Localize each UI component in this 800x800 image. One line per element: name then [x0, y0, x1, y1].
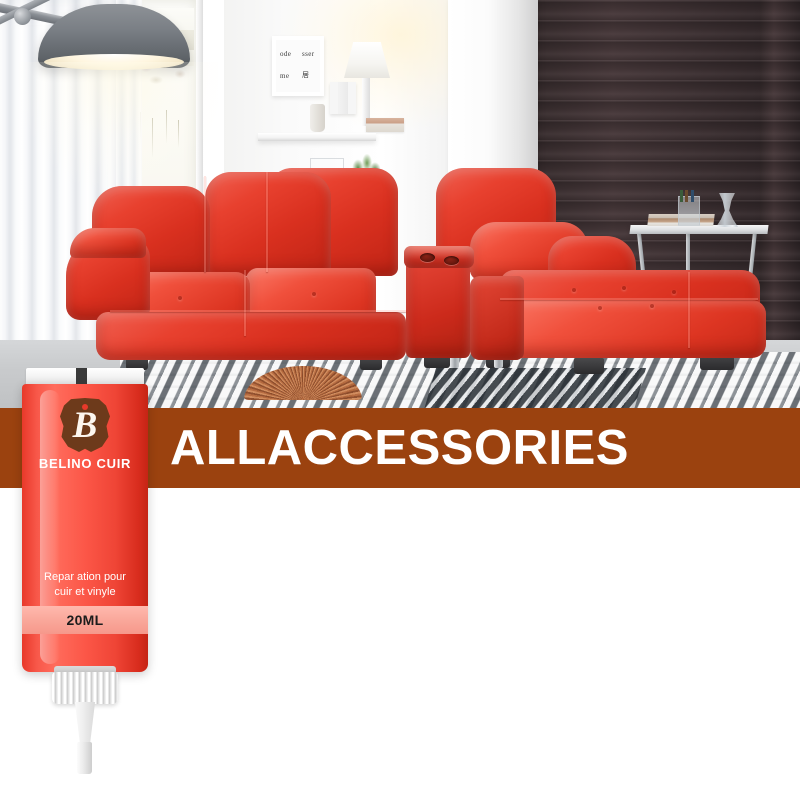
logo-letter: B — [60, 402, 110, 450]
sofa-arm-left-top — [70, 228, 146, 258]
chaise-tuft — [672, 290, 676, 294]
chaise-lounge-front — [496, 300, 766, 358]
sofa-seam — [204, 176, 206, 272]
tube-nozzle — [71, 702, 99, 744]
chaise-seam — [500, 298, 758, 300]
sofa-tuft — [312, 292, 316, 296]
advertisement-banner: ode sser me 居 — [0, 0, 800, 800]
sofa-console-top — [404, 246, 474, 268]
chaise-tuft — [622, 286, 626, 290]
sofa-seam — [244, 270, 246, 336]
sofa-base-skirt — [96, 312, 406, 360]
red-leather-sectional-sofa — [0, 0, 800, 410]
console-cupholder — [420, 253, 435, 262]
chaise-tuft — [598, 306, 602, 310]
volume-label: 20ML — [22, 606, 148, 634]
sofa-foot — [574, 358, 604, 374]
sofa-tuft — [178, 296, 182, 300]
sofa-seam — [110, 310, 406, 312]
tube-description-line-2: cuir et vinyle — [22, 585, 148, 600]
sofa-back-cushion-2 — [205, 172, 331, 276]
banner-title: ALLACCESSORIES — [170, 424, 629, 473]
chaise-tuft — [572, 288, 576, 292]
sofa-seam — [266, 172, 268, 272]
tube-description: Repar ation pour cuir et vinyle — [22, 570, 148, 600]
tube-nozzle-tip — [77, 742, 92, 774]
chaise-tuft — [650, 304, 654, 308]
tube-ribbed-cap — [52, 672, 118, 704]
chaise-seam — [688, 272, 690, 348]
chaise-lounge-side — [470, 276, 524, 360]
tube-description-line-1: Repar ation pour — [22, 570, 148, 585]
product-tube: B BELINO CUIR Repar ation pour cuir et v… — [14, 368, 154, 780]
living-room-photo: ode sser me 居 — [0, 0, 800, 410]
console-cupholder — [444, 256, 459, 265]
brand-name: BELINO CUIR — [22, 456, 148, 471]
